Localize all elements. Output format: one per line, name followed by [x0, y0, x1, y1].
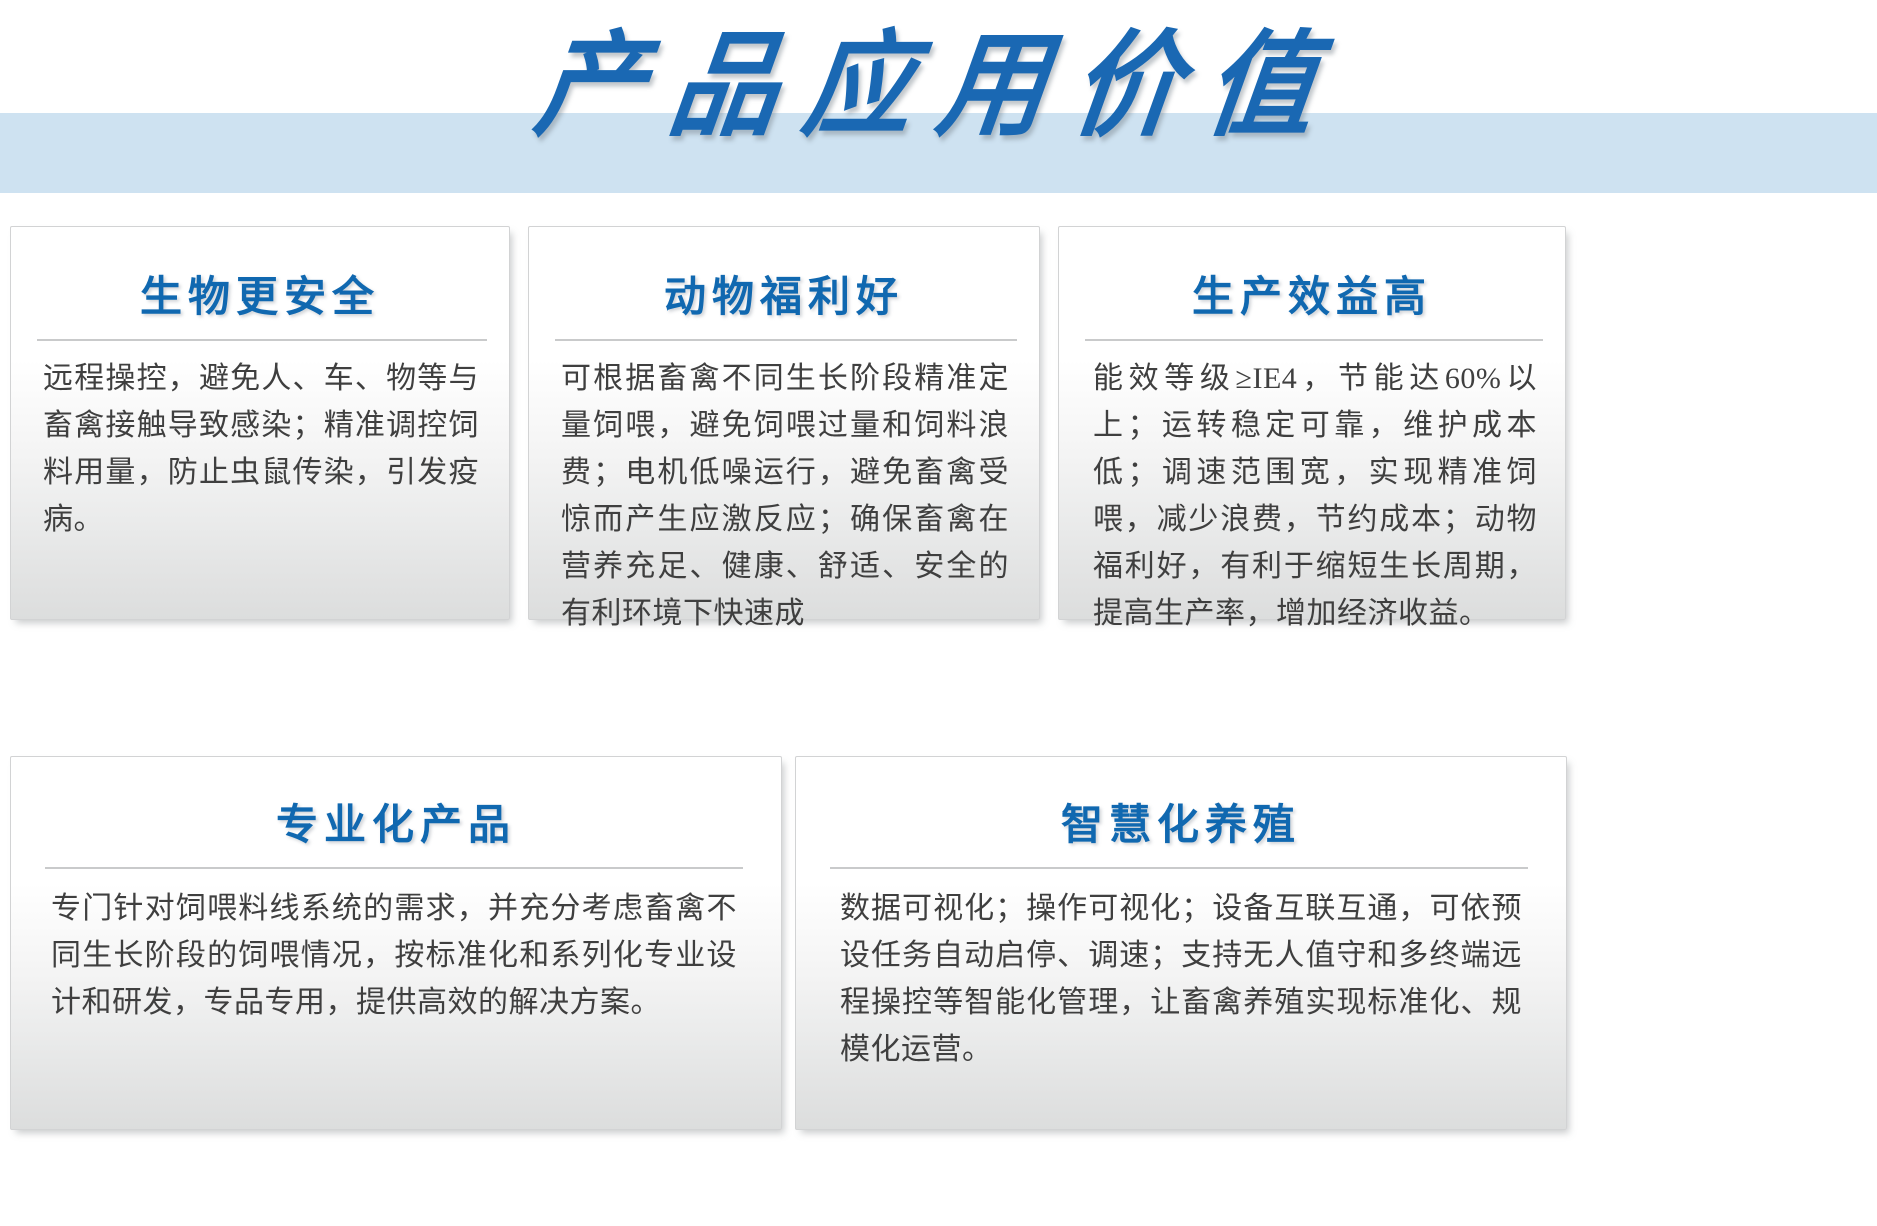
card-divider [45, 867, 743, 869]
card-divider [37, 339, 487, 341]
card-body-production-efficiency: 能效等级≥IE4，节能达60%以上；运转稳定可靠，维护成本低；调速范围宽，实现精… [1093, 355, 1537, 637]
card-heading-production-efficiency: 生产效益高 [1083, 269, 1541, 325]
card-body-professional-product: 专门针对饲喂料线系统的需求，并充分考虑畜禽不同生长阶段的饲喂情况，按标准化和系列… [51, 885, 737, 1026]
card-divider [1085, 339, 1543, 341]
card-biosecurity: 生物更安全 远程操控，避免人、车、物等与畜禽接触导致感染；精准调控饲料用量，防止… [10, 226, 510, 620]
card-heading-biosecurity: 生物更安全 [35, 269, 485, 325]
card-body-smart-farming: 数据可视化；操作可视化；设备互联互通，可依预设任务自动启停、调速；支持无人值守和… [840, 885, 1522, 1073]
card-production-efficiency: 生产效益高 能效等级≥IE4，节能达60%以上；运转稳定可靠，维护成本低；调速范… [1058, 226, 1566, 620]
card-body-animal-welfare: 可根据畜禽不同生长阶段精准定量饲喂，避免饲喂过量和饲料浪费；电机低噪运行，避免畜… [561, 355, 1009, 637]
card-body-biosecurity: 远程操控，避免人、车、物等与畜禽接触导致感染；精准调控饲料用量，防止虫鼠传染，引… [43, 355, 479, 543]
card-professional-product: 专业化产品 专门针对饲喂料线系统的需求，并充分考虑畜禽不同生长阶段的饲喂情况，按… [10, 756, 782, 1130]
page-title: 产品应用价值 [0, 14, 1877, 162]
card-heading-smart-farming: 智慧化养殖 [820, 797, 1542, 853]
card-animal-welfare: 动物福利好 可根据畜禽不同生长阶段精准定量饲喂，避免饲喂过量和饲料浪费；电机低噪… [528, 226, 1040, 620]
card-heading-animal-welfare: 动物福利好 [553, 269, 1015, 325]
card-divider [555, 339, 1017, 341]
card-heading-professional-product: 专业化产品 [35, 797, 757, 853]
page-header: 产品应用价值 [0, 0, 1877, 200]
card-divider [830, 867, 1528, 869]
card-smart-farming: 智慧化养殖 数据可视化；操作可视化；设备互联互通，可依预设任务自动启停、调速；支… [795, 756, 1567, 1130]
